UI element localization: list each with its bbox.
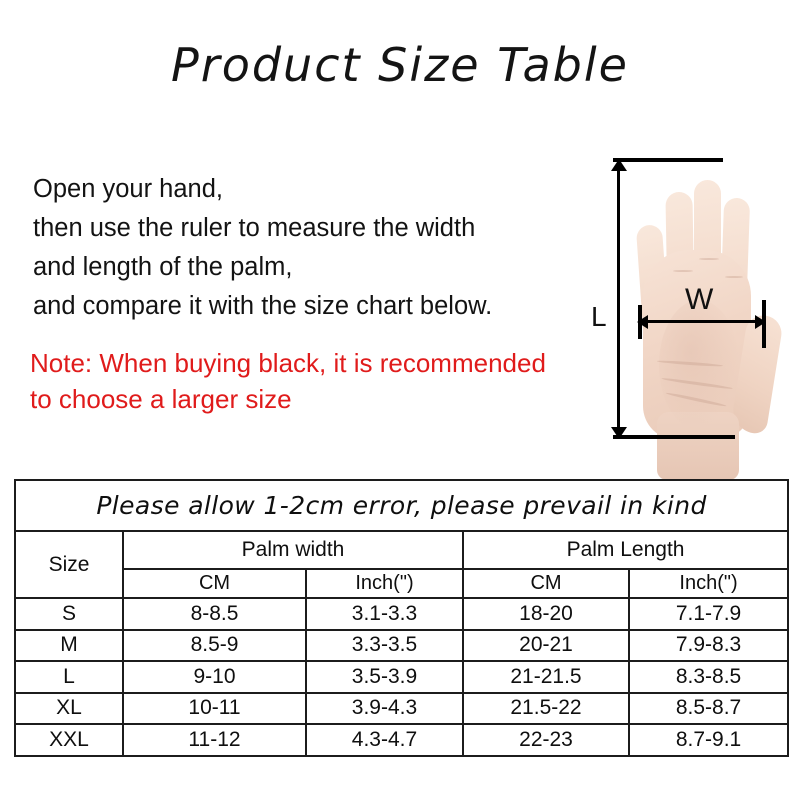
table-row: M 8.5-9 3.3-3.5 20-21 7.9-8.3 xyxy=(15,630,788,662)
cell-width-cm: 11-12 xyxy=(123,724,306,756)
page-title: Product Size Table xyxy=(0,38,800,92)
length-arrow-up-icon xyxy=(611,159,627,171)
length-bottom-tick xyxy=(613,435,735,439)
cell-width-inch: 3.9-4.3 xyxy=(306,693,463,725)
table-row: L 9-10 3.5-3.9 21-21.5 8.3-8.5 xyxy=(15,661,788,693)
cell-size: M xyxy=(15,630,123,662)
subheader-width-inch: Inch(") xyxy=(306,569,463,598)
subheader-length-inch: Inch(") xyxy=(629,569,788,598)
length-arrow-down-icon xyxy=(611,427,627,439)
cell-length-cm: 18-20 xyxy=(463,598,629,630)
width-label: W xyxy=(685,283,713,317)
header-size: Size xyxy=(15,531,123,598)
width-measure-line xyxy=(643,320,763,323)
subheader-length-cm: CM xyxy=(463,569,629,598)
cell-length-cm: 22-23 xyxy=(463,724,629,756)
cell-length-inch: 7.9-8.3 xyxy=(629,630,788,662)
hand-measurement-diagram: L W xyxy=(585,145,800,475)
knuckle-crease xyxy=(725,276,743,278)
note-line: to choose a larger size xyxy=(30,381,605,417)
error-allowance-banner: Please allow 1-2cm error, please prevail… xyxy=(15,480,788,531)
length-top-tick xyxy=(613,158,723,162)
table-group-header-row: Size Palm width Palm Length xyxy=(15,531,788,569)
note-line: Note: When buying black, it is recommend… xyxy=(30,345,605,381)
cell-width-inch: 3.5-3.9 xyxy=(306,661,463,693)
instruction-line: and length of the palm, xyxy=(33,248,593,287)
cell-size: L xyxy=(15,661,123,693)
subheader-width-cm: CM xyxy=(123,569,306,598)
cell-width-inch: 3.3-3.5 xyxy=(306,630,463,662)
cell-width-cm: 10-11 xyxy=(123,693,306,725)
length-measure-line xyxy=(617,163,620,438)
cell-length-inch: 7.1-7.9 xyxy=(629,598,788,630)
instruction-line: Open your hand, xyxy=(33,170,593,209)
cell-length-inch: 8.3-8.5 xyxy=(629,661,788,693)
cell-length-inch: 8.5-8.7 xyxy=(629,693,788,725)
cell-size: XXL xyxy=(15,724,123,756)
warning-note: Note: When buying black, it is recommend… xyxy=(30,345,605,417)
cell-length-cm: 21.5-22 xyxy=(463,693,629,725)
instruction-line: then use the ruler to measure the width xyxy=(33,209,593,248)
table-banner-row: Please allow 1-2cm error, please prevail… xyxy=(15,480,788,531)
knuckle-crease xyxy=(673,270,693,272)
product-size-table-page: Product Size Table Open your hand, then … xyxy=(0,0,800,800)
table-sub-header-row: CM Inch(") CM Inch(") xyxy=(15,569,788,598)
instruction-line: and compare it with the size chart below… xyxy=(33,287,593,326)
cell-width-inch: 4.3-4.7 xyxy=(306,724,463,756)
cell-width-cm: 9-10 xyxy=(123,661,306,693)
cell-length-inch: 8.7-9.1 xyxy=(629,724,788,756)
knuckle-crease xyxy=(699,258,719,260)
cell-length-cm: 20-21 xyxy=(463,630,629,662)
width-arrow-left-icon xyxy=(637,315,648,329)
table-row: XXL 11-12 4.3-4.7 22-23 8.7-9.1 xyxy=(15,724,788,756)
length-label: L xyxy=(591,301,607,333)
table-row: XL 10-11 3.9-4.3 21.5-22 8.5-8.7 xyxy=(15,693,788,725)
cell-size: XL xyxy=(15,693,123,725)
instructions-block: Open your hand, then use the ruler to me… xyxy=(33,170,593,326)
cell-width-cm: 8-8.5 xyxy=(123,598,306,630)
header-palm-width: Palm width xyxy=(123,531,463,569)
cell-length-cm: 21-21.5 xyxy=(463,661,629,693)
header-palm-length: Palm Length xyxy=(463,531,788,569)
width-arrow-right-icon xyxy=(755,315,766,329)
cell-width-inch: 3.1-3.3 xyxy=(306,598,463,630)
table-row: S 8-8.5 3.1-3.3 18-20 7.1-7.9 xyxy=(15,598,788,630)
cell-size: S xyxy=(15,598,123,630)
size-chart-table: Please allow 1-2cm error, please prevail… xyxy=(14,479,789,757)
cell-width-cm: 8.5-9 xyxy=(123,630,306,662)
